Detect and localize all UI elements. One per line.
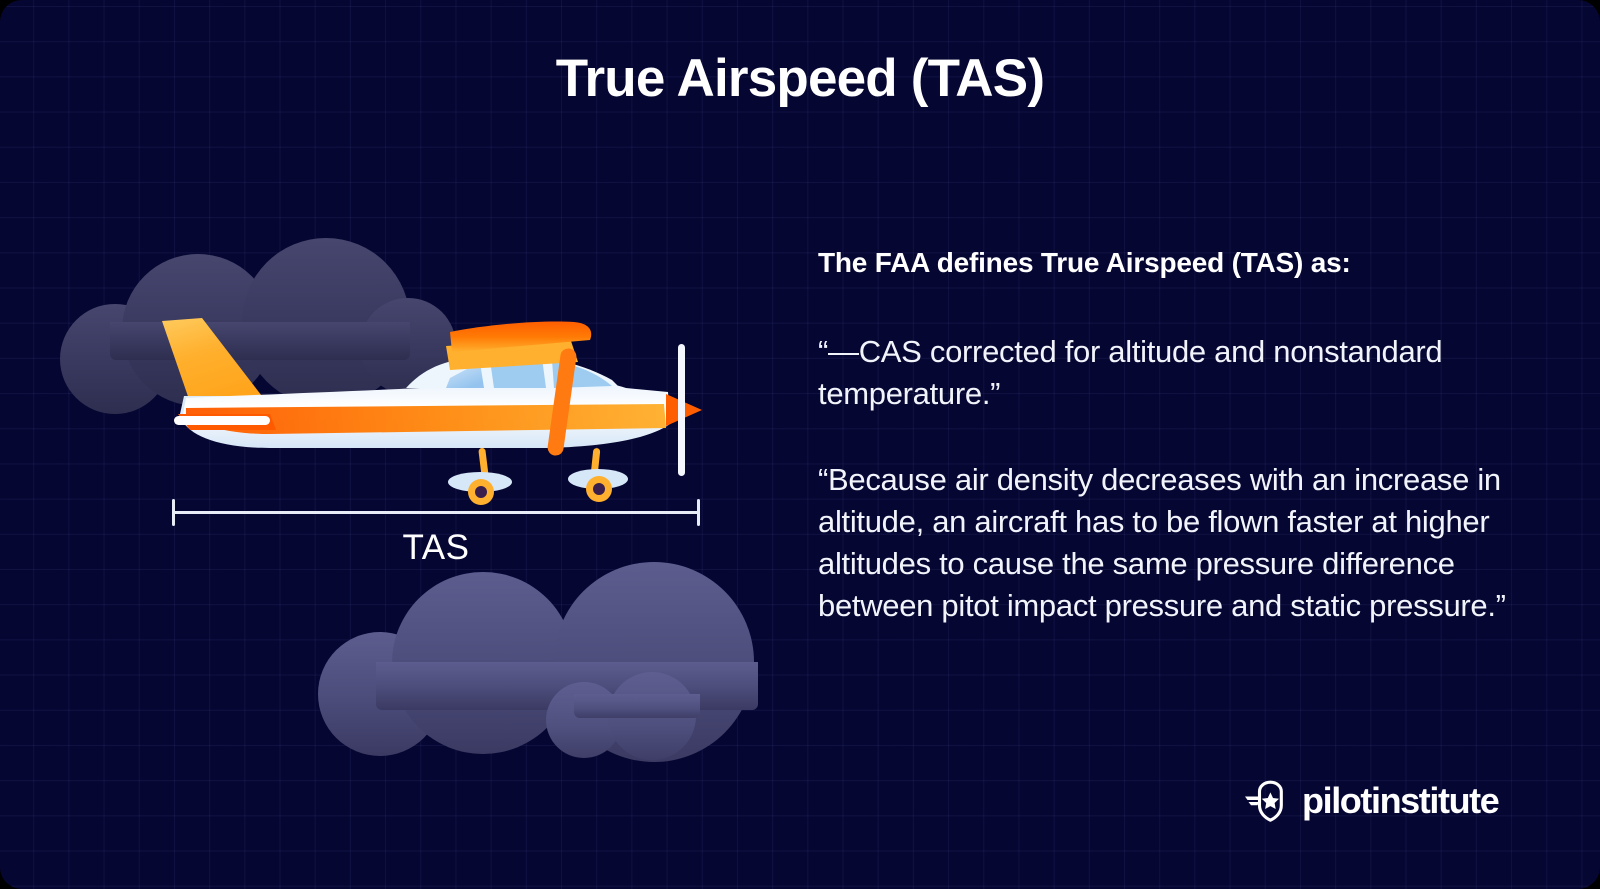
cloud-base [376,662,758,710]
tail-fin [162,318,268,408]
winged-shield-star-icon [1245,780,1291,822]
wheel-front-hub [475,486,487,498]
measure-cap-right [697,499,700,526]
cloud-base [574,694,700,718]
brand-name: pilotinstitute [1302,783,1498,819]
cloud-puff [546,682,622,758]
aircraft-illustration [150,296,710,506]
page-title: True Airspeed (TAS) [0,48,1600,109]
cloud-puff [392,572,574,754]
cloud-puff [608,672,696,760]
definition-quote-one: “—CAS corrected for altitude and nonstan… [818,331,1528,415]
measure-cap-left [172,499,175,526]
cloud-lower-right-small [546,672,728,718]
measure-line [172,511,700,514]
cloud-puff [318,632,442,756]
measure-bar-label: TAS [172,528,700,568]
tas-measure-bar [172,498,700,526]
infographic-card: True Airspeed (TAS) [0,0,1600,889]
wheel-rear-hub [593,483,605,495]
cloud-puff [554,562,754,762]
definition-heading: The FAA defines True Airspeed (TAS) as: [818,243,1528,283]
definition-quote-two: “Because air density decreases with an i… [818,459,1528,627]
propeller [678,344,685,476]
brand-logo[interactable]: pilotinstitute [1245,778,1498,824]
tail-highlight [174,416,270,425]
definition-text-column: The FAA defines True Airspeed (TAS) as: … [818,243,1528,627]
cloud-lower-center [318,562,778,710]
